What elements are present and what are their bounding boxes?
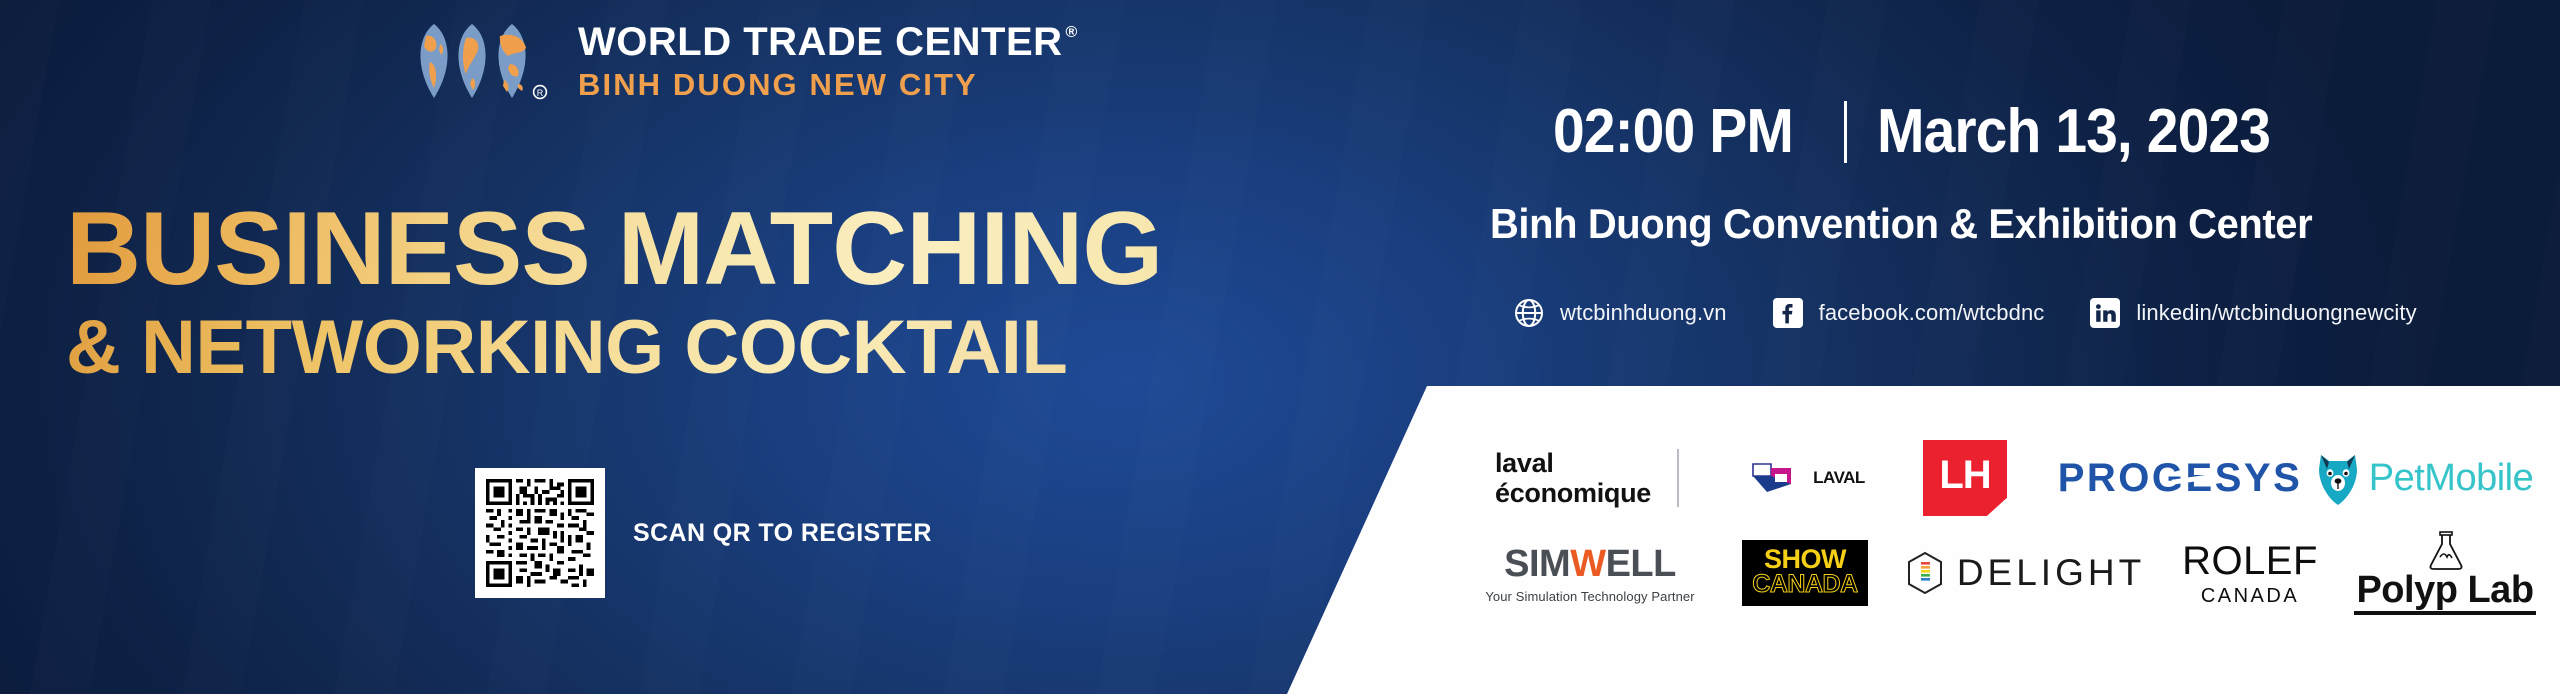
- headline-line1: BUSINESS MATCHING: [66, 196, 1246, 302]
- social-link-linkedin[interactable]: linkedin/wtcbinduongnewcity: [2088, 296, 2416, 330]
- qr-code-icon[interactable]: [475, 468, 605, 598]
- qr-register-block[interactable]: SCAN QR TO REGISTER: [475, 468, 932, 598]
- registered-mark-icon: ®: [1066, 25, 1078, 41]
- sponsor-show-canada: SHOW CANADA: [1710, 540, 1900, 607]
- sponsor-petmobile-text: PetMobile: [2369, 457, 2533, 500]
- headline-block: BUSINESS MATCHING & NETWORKING COCKTAIL: [66, 196, 1246, 388]
- social-link-website[interactable]: wtcbinhduong.vn: [1512, 296, 1727, 330]
- sponsor-delight: DELIGHT: [1900, 551, 2150, 595]
- social-link-facebook[interactable]: facebook.com/wtcbdnc: [1771, 296, 2045, 330]
- sponsor-polyp-lab-text: Polyp Lab: [2354, 571, 2535, 615]
- sponsor-simwell: SIMWELL Your Simulation Technology Partn…: [1470, 543, 1710, 604]
- logo-title-line2: BINH DUONG NEW CITY: [578, 69, 1078, 100]
- hexagon-icon: [1905, 551, 1945, 595]
- sponsor-laval-economique-line2: économique: [1495, 478, 1651, 508]
- headline-line2: & NETWORKING COCKTAIL: [66, 308, 1246, 388]
- sponsor-logos: laval économique LAVAL: [1470, 430, 2540, 616]
- sponsor-simwell-text: SIMWELL: [1504, 543, 1676, 585]
- sponsor-rolef-text: ROLEF: [2182, 539, 2318, 584]
- logo-title-text: WORLD TRADE CENTER: [578, 22, 1063, 62]
- globe-icon: [1512, 296, 1546, 330]
- sponsor-divider: [1677, 449, 1679, 507]
- event-datetime: 02:00 PM March 13, 2023: [1553, 96, 2304, 167]
- sponsor-rolef-canada: ROLEF CANADA: [2150, 539, 2350, 608]
- sponsor-row-1: laval économique LAVAL: [1470, 430, 2540, 526]
- sponsor-rolef-sub: CANADA: [2201, 585, 2299, 608]
- sponsor-progesys: PROGESYS: [2050, 456, 2310, 501]
- linkedin-icon: [2088, 296, 2122, 330]
- flask-icon: [2418, 531, 2472, 571]
- social-links: wtcbinhduong.vn facebook.com/wtcbdnc: [1512, 296, 2417, 330]
- sponsor-laval-text: LAVAL: [1813, 468, 1865, 488]
- social-link-facebook-text: facebook.com/wtcbdnc: [1819, 300, 2045, 326]
- sponsor-simwell-tagline: Your Simulation Technology Partner: [1485, 589, 1694, 604]
- sponsor-show-canada-line2: CANADA: [1752, 572, 1857, 597]
- social-link-website-text: wtcbinhduong.vn: [1560, 300, 1727, 326]
- wtc-logo: R WORLD TRADE CENTER® BINH DUONG NEW CIT…: [406, 22, 1078, 100]
- event-time: 02:00 PM: [1553, 96, 1793, 167]
- event-venue: Binh Duong Convention & Exhibition Cente…: [1490, 200, 2312, 248]
- logo-title-line1: WORLD TRADE CENTER®: [578, 22, 1078, 62]
- sponsor-lh: LH: [1880, 440, 2050, 516]
- sponsor-laval: LAVAL: [1730, 458, 1880, 498]
- sponsor-delight-text: DELIGHT: [1957, 552, 2145, 594]
- sponsor-petmobile: PetMobile: [2310, 449, 2540, 507]
- datetime-divider: [1844, 101, 1847, 163]
- facebook-icon: [1771, 296, 1805, 330]
- sponsor-row-2: SIMWELL Your Simulation Technology Partn…: [1470, 530, 2540, 616]
- qr-register-label: SCAN QR TO REGISTER: [633, 519, 932, 548]
- event-date: March 13, 2023: [1877, 96, 2270, 167]
- sponsor-polyp-lab: Polyp Lab: [2350, 531, 2540, 615]
- svg-text:R: R: [537, 88, 544, 98]
- sponsor-laval-economique: laval économique: [1470, 448, 1730, 508]
- sponsor-lh-text: LH: [1939, 453, 1990, 498]
- sponsor-laval-economique-line1: laval: [1495, 448, 1651, 478]
- dog-head-icon: [2317, 449, 2359, 507]
- event-banner: R WORLD TRADE CENTER® BINH DUONG NEW CIT…: [0, 0, 2560, 694]
- sponsor-show-canada-line1: SHOW: [1764, 547, 1846, 573]
- social-link-linkedin-text: linkedin/wtcbinduongnewcity: [2136, 300, 2416, 326]
- three-globes-icon: R: [406, 22, 558, 100]
